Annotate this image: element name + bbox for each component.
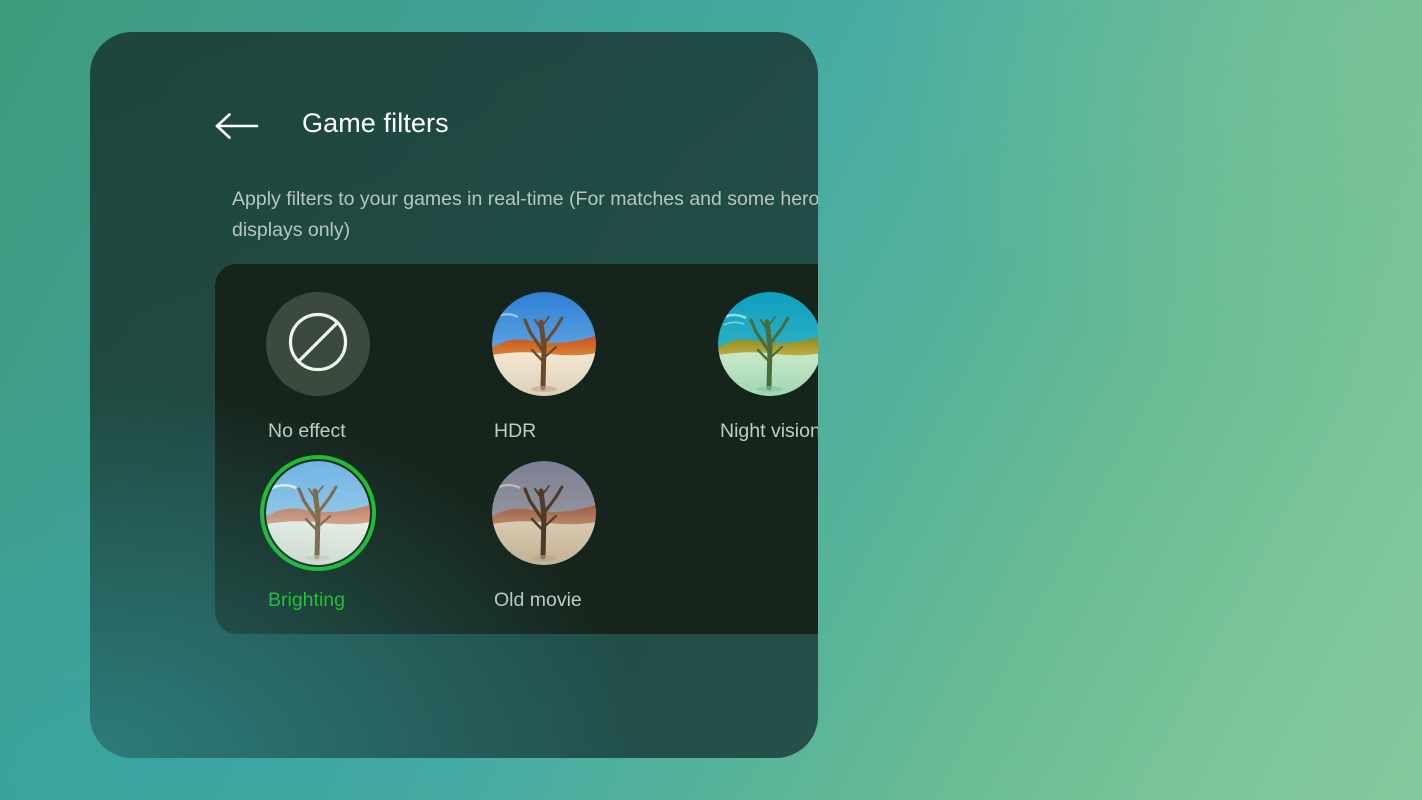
desert-tree-thumbnail	[492, 292, 596, 396]
back-button[interactable]	[212, 102, 268, 150]
filter-label: HDR	[490, 420, 536, 443]
filter-label: Old movie	[490, 589, 582, 612]
filter-options-panel: No effect	[215, 264, 818, 634]
page-description: Apply filters to your games in real-time…	[232, 184, 818, 246]
desert-tree-thumbnail	[266, 461, 370, 565]
arrow-left-icon	[212, 110, 260, 142]
no-effect-thumbnail	[266, 292, 370, 396]
filter-label: Brighting	[264, 589, 345, 612]
filter-thumbnail-wrapper[interactable]	[264, 290, 372, 398]
filter-option-night-vision[interactable]: Night vision	[716, 290, 818, 459]
desert-tree-thumbnail	[718, 292, 818, 396]
filter-label: No effect	[264, 420, 346, 443]
filter-option-hdr[interactable]: HDR	[490, 290, 716, 459]
filter-option-old-movie[interactable]: Old movie	[490, 459, 716, 628]
filter-thumbnail-wrapper[interactable]	[490, 459, 598, 567]
prohibition-icon	[287, 311, 349, 378]
filter-option-brighting[interactable]: Brighting	[264, 459, 490, 628]
filter-grid: No effect	[215, 264, 818, 628]
game-filters-settings-card: Game filters Apply filters to your games…	[90, 32, 818, 758]
desert-tree-thumbnail	[492, 461, 596, 565]
filter-thumbnail-wrapper[interactable]	[716, 290, 818, 398]
filter-thumbnail-wrapper[interactable]	[490, 290, 598, 398]
filter-thumbnail-wrapper[interactable]	[264, 459, 372, 567]
filter-option-no-effect[interactable]: No effect	[264, 290, 490, 459]
filter-label: Night vision	[716, 420, 818, 443]
page-title: Game filters	[302, 108, 449, 139]
desktop-wallpaper: Game filters Apply filters to your games…	[0, 0, 1422, 800]
page-header: Game filters	[90, 32, 818, 160]
